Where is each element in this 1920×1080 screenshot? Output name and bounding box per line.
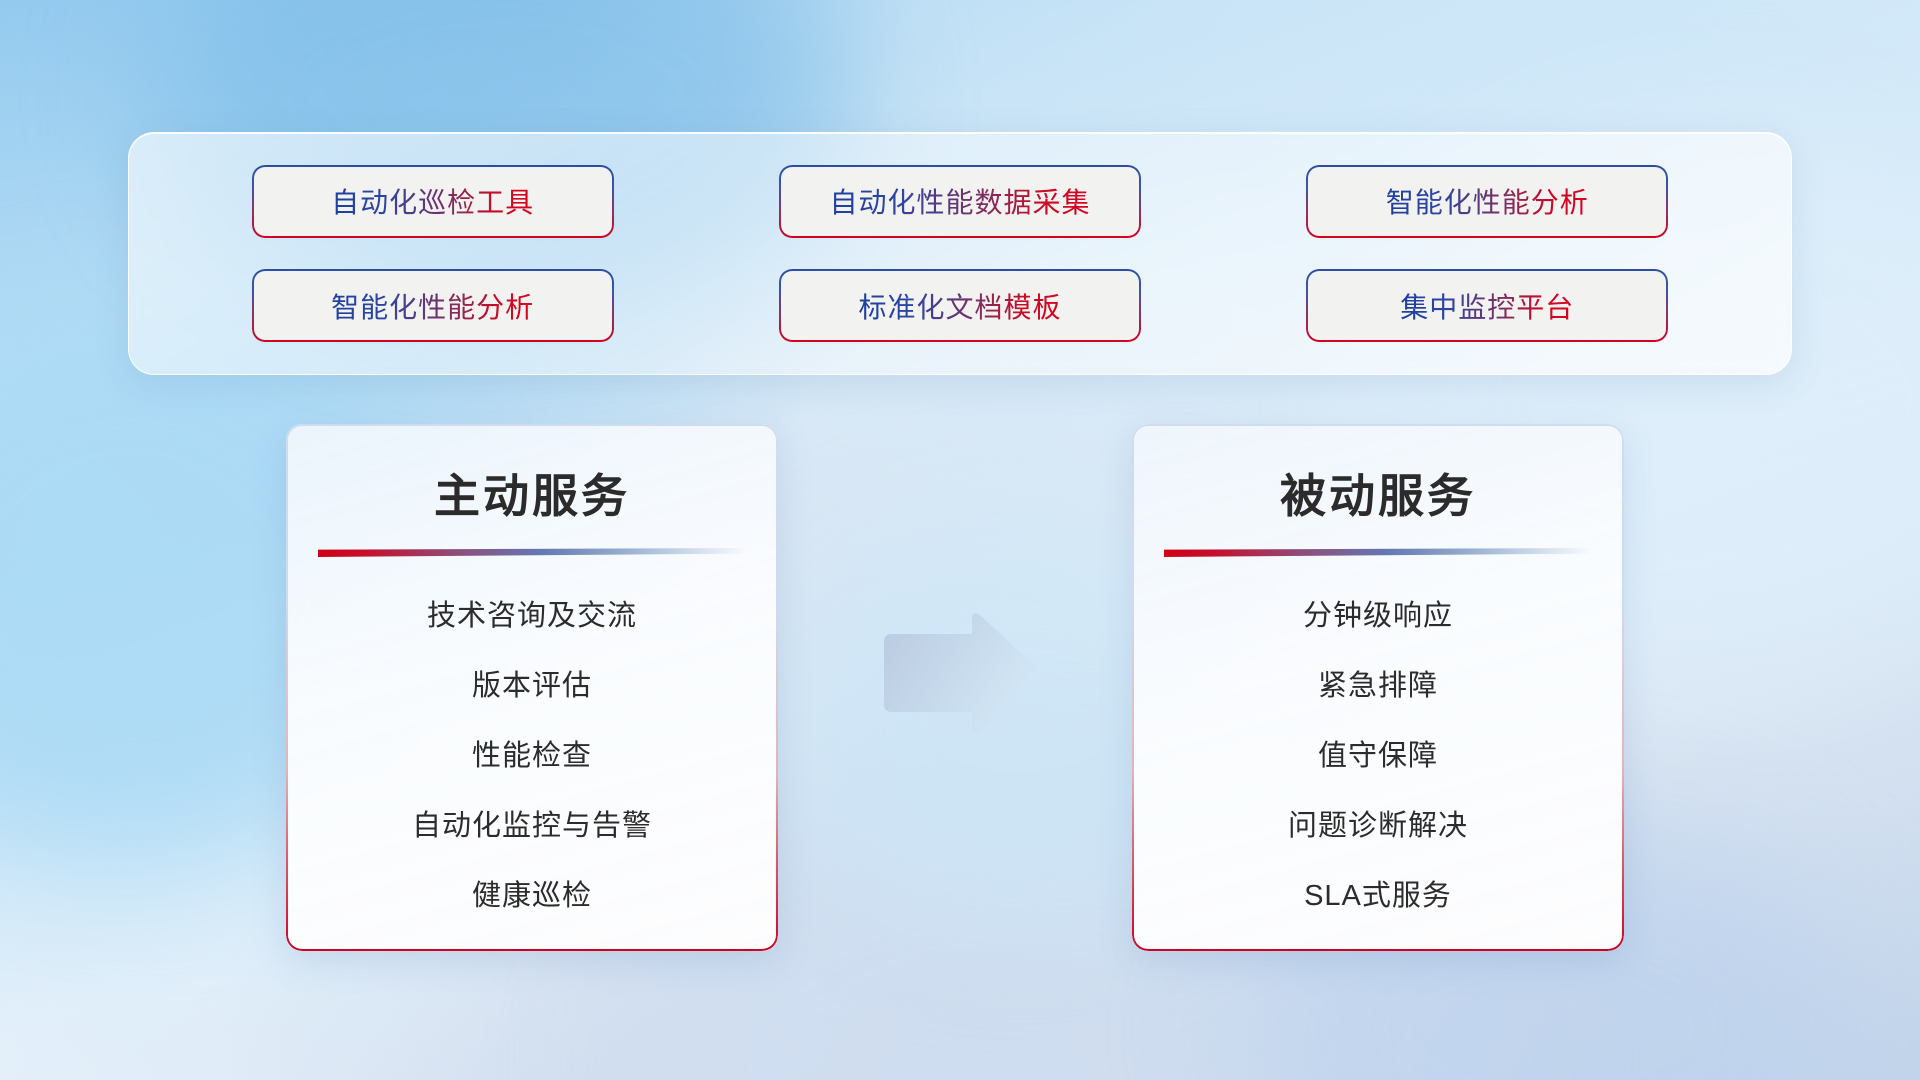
capabilities-panel: 自动化巡检工具 自动化性能数据采集 智能化性能分析 智能化性能分析 标准化文档模… [128, 132, 1792, 375]
service-list-item: 健康巡检 [472, 872, 592, 914]
capability-pill[interactable]: 智能化性能分析 [1308, 167, 1666, 236]
capability-pill-label: 智能化性能分析 [1386, 181, 1589, 221]
service-item-list: 技术咨询及交流 版本评估 性能检查 自动化监控与告警 健康巡检 [286, 592, 778, 914]
capability-pill[interactable]: 标准化文档模板 [781, 271, 1139, 340]
service-list-item: SLA式服务 [1304, 872, 1452, 914]
capability-pill-label: 集中监控平台 [1400, 286, 1574, 326]
diagram-canvas: 自动化巡检工具 自动化性能数据采集 智能化性能分析 智能化性能分析 标准化文档模… [0, 0, 1920, 1080]
capability-pill[interactable]: 集中监控平台 [1308, 271, 1666, 340]
service-list-item: 紧急排障 [1318, 662, 1438, 704]
service-list-item: 自动化监控与告警 [412, 802, 652, 844]
arrow-right-icon [876, 608, 1042, 738]
service-card-title: 主动服务 [286, 460, 778, 526]
service-card-proactive: 主动服务 技术咨询及交流 版本评估 性能检查 自动化监控与告警 健康巡检 [286, 424, 778, 951]
capability-pill-label: 标准化文档模板 [858, 286, 1061, 326]
service-card-title: 被动服务 [1132, 460, 1624, 526]
capability-pill-label: 自动化巡检工具 [331, 181, 534, 221]
service-list-item: 性能检查 [472, 732, 592, 774]
service-list-item: 问题诊断解决 [1288, 802, 1468, 844]
capability-pill-label: 智能化性能分析 [331, 286, 534, 326]
service-list-item: 版本评估 [472, 662, 592, 704]
service-card-reactive: 被动服务 分钟级响应 紧急排障 值守保障 问题诊断解决 SLA式服务 [1132, 424, 1624, 951]
capability-pill[interactable]: 自动化巡检工具 [254, 167, 612, 236]
service-list-item: 分钟级响应 [1303, 592, 1453, 634]
service-item-list: 分钟级响应 紧急排障 值守保障 问题诊断解决 SLA式服务 [1132, 592, 1624, 914]
capability-pill[interactable]: 智能化性能分析 [254, 271, 612, 340]
title-divider [1164, 548, 1592, 558]
capability-pill-label: 自动化性能数据采集 [829, 181, 1090, 221]
service-list-item: 值守保障 [1318, 732, 1438, 774]
service-list-item: 技术咨询及交流 [427, 592, 637, 634]
title-divider [318, 548, 746, 558]
capability-pill[interactable]: 自动化性能数据采集 [781, 167, 1139, 236]
